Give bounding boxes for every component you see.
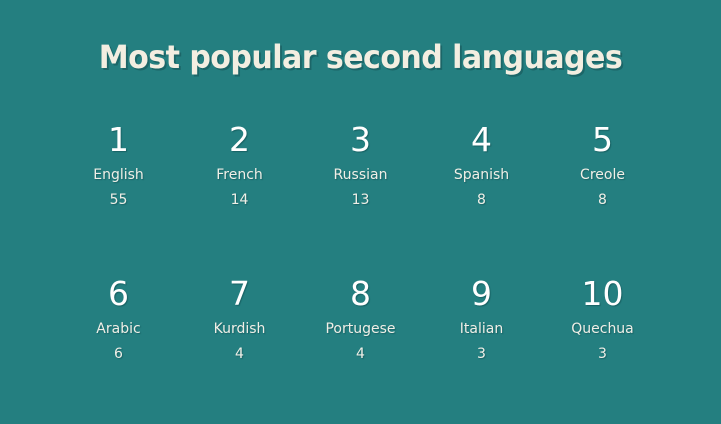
language-value: 14: [181, 188, 298, 212]
ranking-item-arabic: 6 Arabic 6: [58, 272, 179, 366]
language-value: 3: [423, 342, 540, 366]
ranking-item-russian: 3 Russian 13: [300, 118, 421, 212]
ranking-item-french: 2 French 14: [179, 118, 300, 212]
rank-number: 4: [423, 118, 540, 162]
language-label: Kurdish: [181, 316, 298, 342]
language-label: Creole: [544, 162, 661, 188]
rank-number: 3: [302, 118, 419, 162]
language-value: 13: [302, 188, 419, 212]
language-label: English: [60, 162, 177, 188]
language-label: French: [181, 162, 298, 188]
ranking-item-portugese: 8 Portugese 4: [300, 272, 421, 366]
ranking-item-spanish: 4 Spanish 8: [421, 118, 542, 212]
rank-number: 1: [60, 118, 177, 162]
rank-number: 2: [181, 118, 298, 162]
language-label: Spanish: [423, 162, 540, 188]
infographic-canvas: Most popular second languages 1 English …: [0, 0, 721, 424]
language-label: Quechua: [544, 316, 661, 342]
ranking-item-italian: 9 Italian 3: [421, 272, 542, 366]
rank-number: 8: [302, 272, 419, 316]
rank-number: 7: [181, 272, 298, 316]
ranking-item-english: 1 English 55: [58, 118, 179, 212]
language-value: 8: [544, 188, 661, 212]
language-label: Portugese: [302, 316, 419, 342]
language-label: Arabic: [60, 316, 177, 342]
ranking-item-kurdish: 7 Kurdish 4: [179, 272, 300, 366]
language-label: Italian: [423, 316, 540, 342]
ranking-item-creole: 5 Creole 8: [542, 118, 663, 212]
language-value: 8: [423, 188, 540, 212]
page-title: Most popular second languages: [22, 38, 700, 76]
rank-number: 5: [544, 118, 661, 162]
rank-number: 6: [60, 272, 177, 316]
language-value: 4: [181, 342, 298, 366]
ranking-item-quechua: 10 Quechua 3: [542, 272, 663, 366]
language-value: 4: [302, 342, 419, 366]
rank-number: 9: [423, 272, 540, 316]
language-value: 55: [60, 188, 177, 212]
language-value: 3: [544, 342, 661, 366]
ranking-grid: 1 English 55 2 French 14 3 Russian 13 4 …: [58, 118, 663, 366]
language-value: 6: [60, 342, 177, 366]
ranking-row-2: 6 Arabic 6 7 Kurdish 4 8 Portugese 4 9 I…: [58, 272, 663, 366]
language-label: Russian: [302, 162, 419, 188]
rank-number: 10: [544, 272, 661, 316]
ranking-row-1: 1 English 55 2 French 14 3 Russian 13 4 …: [58, 118, 663, 212]
